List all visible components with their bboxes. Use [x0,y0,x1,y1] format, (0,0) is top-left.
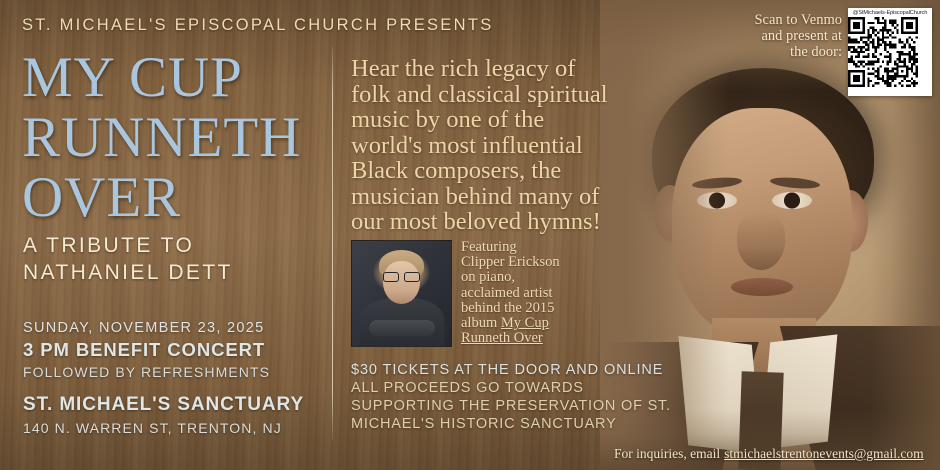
featuring-instrument: on piano, [461,270,626,285]
proceeds-line-1: ALL PROCEEDS GO TOWARDS [351,379,671,397]
artist-photo-glasses [383,272,420,280]
blurb-line-2: folk and classical spiritual [351,82,621,108]
venmo-line-1: Scan to Venmo [702,12,842,28]
proceeds-line-2: SUPPORTING THE PRESERVATION OF ST. [351,397,671,415]
artist-photo-crossed-arms [369,320,435,336]
featuring-album-line: album My Cup [461,316,626,331]
page-title: MY CUP RUNNETH OVER [22,48,301,228]
title-line-2: RUNNETH [22,108,301,168]
album-title-part-2: Runneth Over [461,331,626,346]
blurb-line-3: music by one of the [351,107,621,133]
qr-code-icon [848,17,918,87]
church-presents-header: ST. MICHAEL'S EPISCOPAL CHURCH PRESENTS [22,16,494,35]
event-time: 3 PM BENEFIT CONCERT [23,339,270,361]
venmo-line-2: and present at [702,28,842,44]
featuring-credit-1: acclaimed artist [461,286,626,301]
venue-block: ST. MICHAEL'S SANCTUARY 140 N. WARREN ST… [23,394,304,436]
portrait-nose [737,212,785,270]
tickets-block: $30 TICKETS AT THE DOOR AND ONLINE ALL P… [351,362,671,433]
subtitle-tribute: A TRIBUTE TO NATHANIEL DETT [23,232,233,286]
portrait-eye-right [772,192,812,209]
blurb-line-1: Hear the rich legacy of [351,56,621,82]
event-followed-by: FOLLOWED BY REFRESHMENTS [23,364,270,380]
vertical-divider [332,46,333,440]
description-blurb: Hear the rich legacy of folk and classic… [351,56,621,235]
inquiries-footer: For inquiries, emailstmichaelstrentoneve… [614,446,924,462]
inquiries-prefix: For inquiries, email [614,446,720,461]
proceeds-line-3: MICHAEL'S HISTORIC SANCTUARY [351,415,671,433]
title-line-1: MY CUP [22,48,301,108]
portrait-mouth [731,278,793,296]
album-prefix: album [461,315,501,331]
blurb-line-4: world's most influential [351,133,621,159]
title-line-3: OVER [22,168,301,228]
featuring-credit-2: behind the 2015 [461,301,626,316]
venue-name: ST. MICHAEL'S SANCTUARY [23,394,304,416]
venmo-instructions: Scan to Venmo and present at the door: [702,12,842,60]
featuring-block: Featuring Clipper Erickson on piano, acc… [461,240,626,346]
venmo-handle-label: @StMichaels-EpiscopalChurch [848,8,932,16]
clipper-erickson-photo [351,240,452,347]
contact-email-link[interactable]: stmichaelstrentonevents@gmail.com [724,446,924,461]
featuring-artist-name: Clipper Erickson [461,255,626,270]
tickets-headline: $30 TICKETS AT THE DOOR AND ONLINE [351,362,671,378]
artist-photo-face [383,261,420,304]
event-datetime-block: SUNDAY, NOVEMBER 23, 2025 3 PM BENEFIT C… [23,320,270,380]
featuring-label: Featuring [461,240,626,255]
blurb-line-7: our most beloved hymns! [351,209,621,235]
tribute-line-2: NATHANIEL DETT [23,259,233,286]
concert-poster: ST. MICHAEL'S EPISCOPAL CHURCH PRESENTS … [0,0,940,470]
tickets-proceeds: ALL PROCEEDS GO TOWARDS SUPPORTING THE P… [351,379,671,433]
venmo-qr-code[interactable]: @StMichaels-EpiscopalChurch [848,8,932,96]
event-date: SUNDAY, NOVEMBER 23, 2025 [23,320,270,336]
venue-address: 140 N. WARREN ST, TRENTON, NJ [23,420,304,436]
blurb-line-6: musician behind many of [351,184,621,210]
tribute-line-1: A TRIBUTE TO [23,232,233,259]
album-title-part-1: My Cup [501,315,549,331]
blurb-line-5: Black composers, the [351,158,621,184]
venmo-line-3: the door: [702,44,842,60]
